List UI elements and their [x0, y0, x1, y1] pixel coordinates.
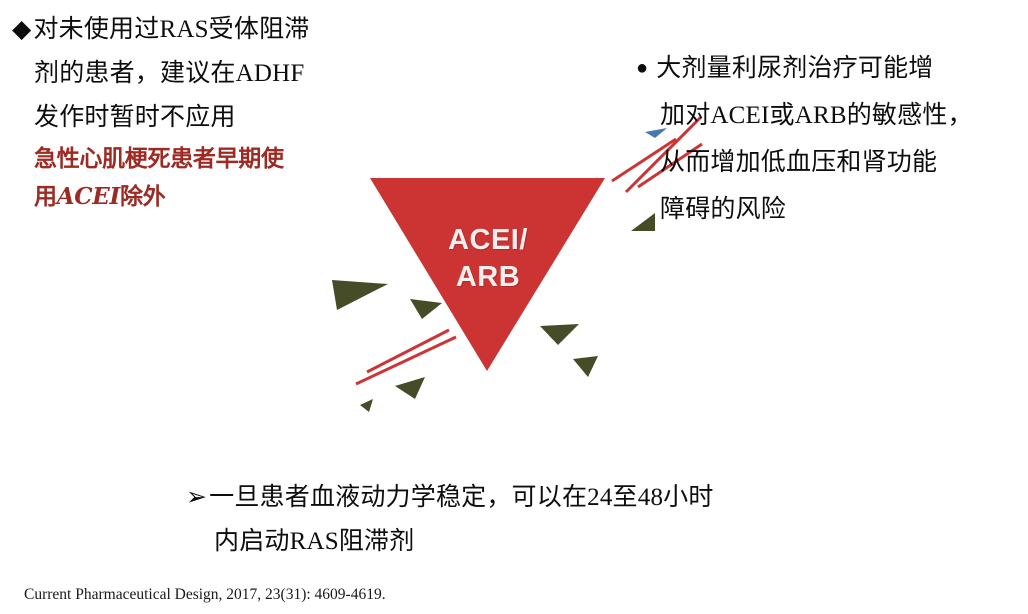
olive-arrow-left-large — [332, 280, 388, 310]
olive-arrow-right-upper — [540, 324, 579, 345]
dot-bullet-icon: ● — [636, 45, 648, 92]
left-line-3: 发作时暂时不应用 — [12, 96, 432, 140]
right-line-1-text: 大剂量利尿剂治疗可能增 — [656, 55, 933, 82]
red-accent-lines-lower-left — [356, 330, 456, 384]
right-line-3: 从而增加低血压和肾功能 — [636, 139, 1028, 186]
bottom-text-block: ➢一旦患者血液动力学稳定，可以在24至48小时 内启动RAS阻滞剂 — [186, 476, 826, 564]
right-text-block: ●大剂量利尿剂治疗可能增 加对ACEI或ARB的敏感性， 从而增加低血压和肾功能… — [636, 45, 1028, 233]
right-line-1: ●大剂量利尿剂治疗可能增 — [636, 45, 1028, 92]
red-line-lower-left-b — [356, 337, 456, 384]
olive-arrow-tiny — [360, 399, 373, 412]
left-line-1: ◆对未使用过RAS受体阻滞 — [12, 8, 432, 52]
left-red-line-2-prefix: 用 — [34, 183, 57, 210]
olive-arrow-mid — [410, 299, 442, 319]
left-red-line-2: 用ACEI除外 — [12, 178, 432, 216]
left-red-line-1: 急性心肌梗死患者早期使 — [12, 140, 432, 178]
olive-arrow-small-lower — [395, 377, 425, 399]
triangle-label-line1: ACEI/ — [400, 222, 576, 259]
left-line-2: 剂的患者，建议在ADHF — [12, 52, 432, 96]
right-line-4: 障碍的风险 — [636, 186, 1028, 233]
citation-reference: Current Pharmaceutical Design, 2017, 23(… — [24, 586, 386, 604]
arrow-bullet-icon: ➢ — [186, 476, 207, 520]
triangle-label: ACEI/ ARB — [400, 222, 576, 296]
bottom-line-1-text: 一旦患者血液动力学稳定，可以在24至48小时 — [209, 484, 713, 511]
left-red-line-2-suffix: 除外 — [120, 183, 165, 210]
left-text-block: ◆对未使用过RAS受体阻滞 剂的患者，建议在ADHF 发作时暂时不应用 急性心肌… — [12, 8, 432, 216]
olive-arrow-right-lower — [573, 356, 598, 377]
bottom-line-2: 内启动RAS阻滞剂 — [186, 520, 826, 564]
right-line-2: 加对ACEI或ARB的敏感性， — [636, 92, 1028, 139]
bottom-line-1: ➢一旦患者血液动力学稳定，可以在24至48小时 — [186, 476, 826, 520]
triangle-label-line2: ARB — [400, 259, 576, 296]
slide-canvas: ACEI/ ARB ◆对未使用过RAS受体阻滞 剂的患者，建议在ADHF 发作时… — [0, 0, 1028, 614]
left-line-1-text: 对未使用过RAS受体阻滞 — [33, 16, 309, 43]
left-red-italic-acei: ACEI — [57, 183, 120, 210]
diamond-bullet-icon: ◆ — [12, 8, 31, 52]
red-line-lower-left-a — [367, 330, 449, 372]
